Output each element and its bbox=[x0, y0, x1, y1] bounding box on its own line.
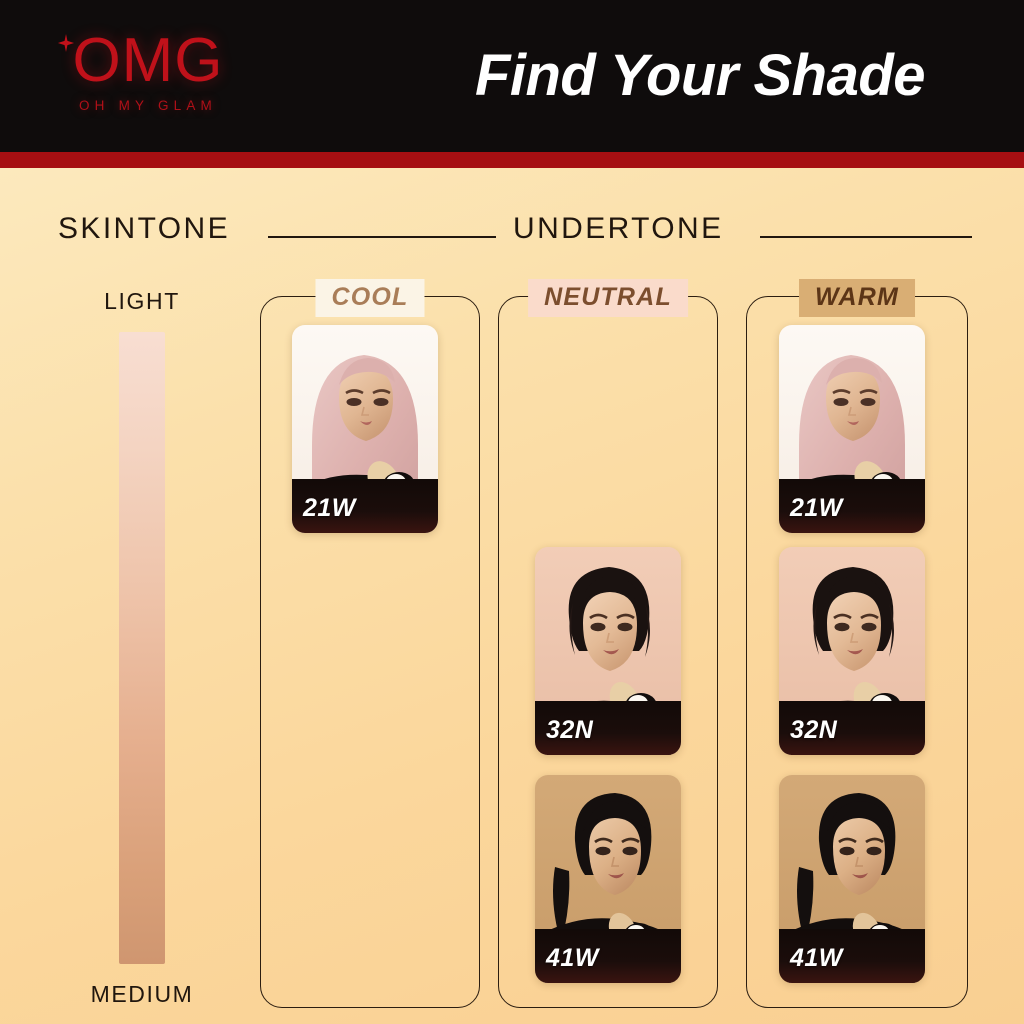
shade-code: 41W bbox=[790, 944, 843, 973]
undertone-heading: UNDERTONE bbox=[513, 212, 724, 246]
shade-code: 21W bbox=[790, 494, 843, 523]
column-header-neutral: NEUTRAL bbox=[528, 279, 688, 317]
header-accent-bar bbox=[0, 152, 1024, 168]
shade-card[interactable]: 32N bbox=[779, 547, 925, 755]
brand-tagline: OH MY GLAM bbox=[48, 98, 248, 113]
page-title: Find Your Shade bbox=[410, 42, 990, 109]
content-area: SKINTONE UNDERTONE LIGHT MEDIUM COOL bbox=[0, 168, 1024, 1024]
skintone-heading: SKINTONE bbox=[58, 212, 230, 246]
shade-card[interactable]: 21W bbox=[779, 325, 925, 533]
page-header: OMG OH MY GLAM Find Your Shade bbox=[0, 0, 1024, 152]
shade-card[interactable]: 41W bbox=[779, 775, 925, 983]
undertone-column-cool[interactable]: COOL bbox=[260, 296, 480, 1008]
brand-logo-text: OMG bbox=[48, 32, 248, 91]
shade-code: 41W bbox=[546, 944, 599, 973]
shade-card[interactable]: 21W bbox=[292, 325, 438, 533]
divider-line-right bbox=[760, 236, 972, 238]
undertone-column-neutral[interactable]: NEUTRAL bbox=[498, 296, 718, 1008]
shade-code: 32N bbox=[790, 716, 837, 745]
brand-logo[interactable]: OMG OH MY GLAM bbox=[48, 32, 248, 113]
shade-card[interactable]: 41W bbox=[535, 775, 681, 983]
column-header-cool: COOL bbox=[315, 279, 424, 317]
column-header-warm: WARM bbox=[799, 279, 915, 317]
divider-line-left bbox=[268, 236, 496, 238]
shade-code: 21W bbox=[303, 494, 356, 523]
undertone-columns: COOL bbox=[0, 296, 1024, 1008]
shade-card[interactable]: 32N bbox=[535, 547, 681, 755]
undertone-column-warm[interactable]: WARM bbox=[746, 296, 968, 1008]
shade-code: 32N bbox=[546, 716, 593, 745]
section-heading-row: SKINTONE UNDERTONE bbox=[0, 212, 1024, 256]
